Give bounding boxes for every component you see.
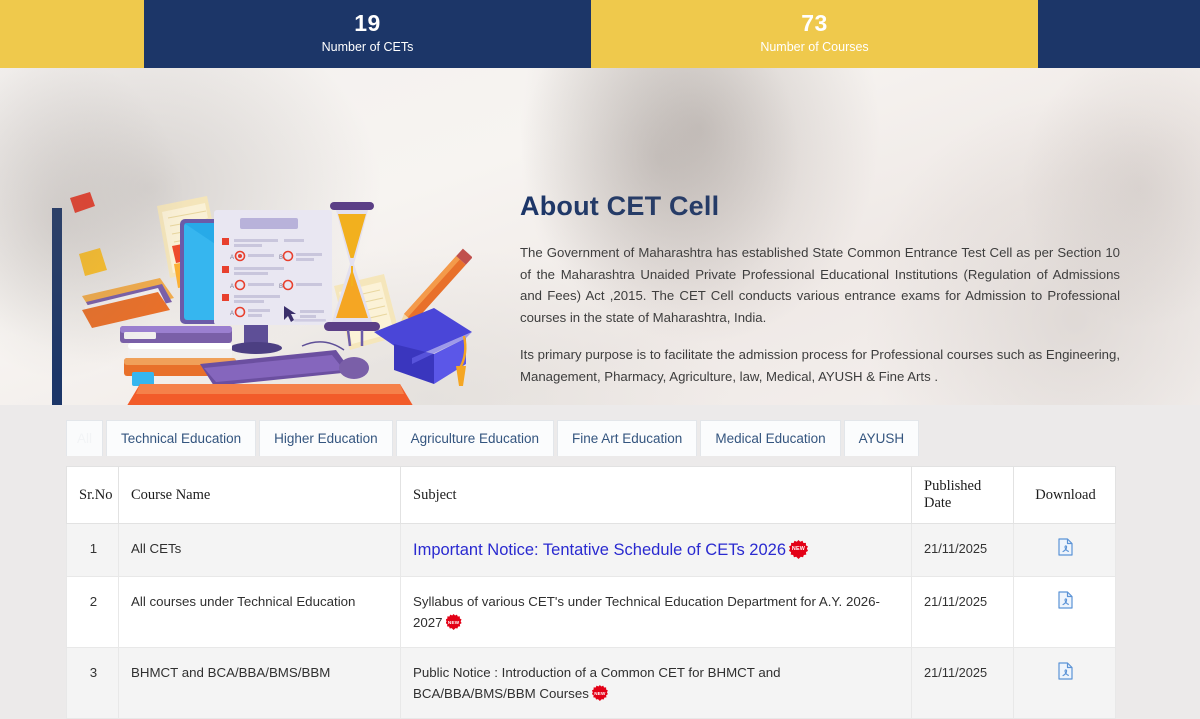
cell-published-date: 21/11/2025 [912,577,1014,648]
column-header-srno: Sr.No [67,467,119,524]
stat-value-cets: 19 [354,11,381,35]
table-header-row: Sr.No Course Name Subject Published Date… [67,467,1116,524]
stat-label-cets: Number of CETs [322,39,414,57]
stats-strip: 19 Number of CETs 73 Number of Courses [0,0,1200,68]
pdf-file-icon[interactable] [1058,662,1073,680]
subject-link[interactable]: Important Notice: Tentative Schedule of … [413,541,786,559]
svg-text:A: A [230,311,234,317]
svg-text:B: B [279,284,283,290]
tab-fine-art-education-label: Fine Art Education [572,431,682,446]
pdf-file-icon[interactable] [1058,591,1073,609]
svg-text:B: B [279,255,283,261]
cell-course-name: BHMCT and BCA/BBA/BMS/BBM [119,648,401,719]
new-badge-icon: NEW [592,685,608,701]
pdf-file-icon[interactable] [1058,538,1073,556]
tab-all[interactable]: All [66,420,103,456]
tab-technical-education-label: Technical Education [121,431,241,446]
svg-text:A: A [230,255,234,261]
new-badge-label: NEW [789,540,808,559]
svg-text:A: A [230,284,234,290]
about-paragraph-2: Its primary purpose is to facilitate the… [520,344,1120,387]
stat-card-next-partial [1038,0,1200,68]
tab-medical-education-label: Medical Education [715,431,825,446]
table-row: 3 BHMCT and BCA/BBA/BMS/BBM Public Notic… [67,648,1116,719]
tab-ayush-label: AYUSH [859,431,905,446]
tab-agriculture-education-label: Agriculture Education [411,431,539,446]
stat-value-courses: 73 [801,11,828,35]
tab-fine-art-education[interactable]: Fine Art Education [557,420,697,456]
stat-card-number-of-cets: 19 Number of CETs [144,0,591,68]
tab-higher-education-label: Higher Education [274,431,378,446]
stat-card-number-of-courses: 73 Number of Courses [591,0,1038,68]
about-paragraph-1: The Government of Maharashtra has establ… [520,242,1120,328]
cell-srno: 1 [67,524,119,577]
about-text-block: About CET Cell The Government of Maharas… [520,191,1120,387]
notice-category-tabs: All Technical Education Higher Education… [66,420,919,456]
new-badge-label: NEW [446,614,462,630]
cell-subject: Important Notice: Tentative Schedule of … [401,524,912,577]
tab-agriculture-education[interactable]: Agriculture Education [396,420,554,456]
column-header-download: Download [1014,467,1116,524]
tab-ayush[interactable]: AYUSH [844,420,920,456]
notices-table: Sr.No Course Name Subject Published Date… [66,466,1116,719]
cell-download [1014,524,1116,577]
education-illustration: A B A B A [62,186,472,405]
tab-all-label: All [77,431,92,446]
cell-srno: 2 [67,577,119,648]
tab-higher-education[interactable]: Higher Education [259,420,393,456]
column-header-published-date: Published Date [912,467,1014,524]
cell-course-name: All courses under Technical Education [119,577,401,648]
about-section: A B A B A [0,68,1200,405]
cell-subject: Public Notice : Introduction of a Common… [401,648,912,719]
cell-published-date: 21/11/2025 [912,648,1014,719]
stats-strip-left-filler [0,0,144,68]
page-title: About CET Cell [520,191,1120,222]
column-header-course-name: Course Name [119,467,401,524]
new-badge-label: NEW [592,685,608,701]
cell-download [1014,577,1116,648]
cell-subject: Syllabus of various CET's under Technica… [401,577,912,648]
cell-srno: 3 [67,648,119,719]
tab-technical-education[interactable]: Technical Education [106,420,256,456]
tab-medical-education[interactable]: Medical Education [700,420,840,456]
subject-text: Syllabus of various CET's under Technica… [413,594,880,630]
column-header-subject: Subject [401,467,912,524]
illustration-frame-vertical [52,208,62,405]
new-badge-icon: NEW [446,614,462,630]
new-badge-icon: NEW [789,540,808,559]
cell-download [1014,648,1116,719]
stat-label-courses: Number of Courses [760,39,868,57]
cell-published-date: 21/11/2025 [912,524,1014,577]
table-row: 1 All CETs Important Notice: Tentative S… [67,524,1116,577]
table-row: 2 All courses under Technical Education … [67,577,1116,648]
cell-course-name: All CETs [119,524,401,577]
